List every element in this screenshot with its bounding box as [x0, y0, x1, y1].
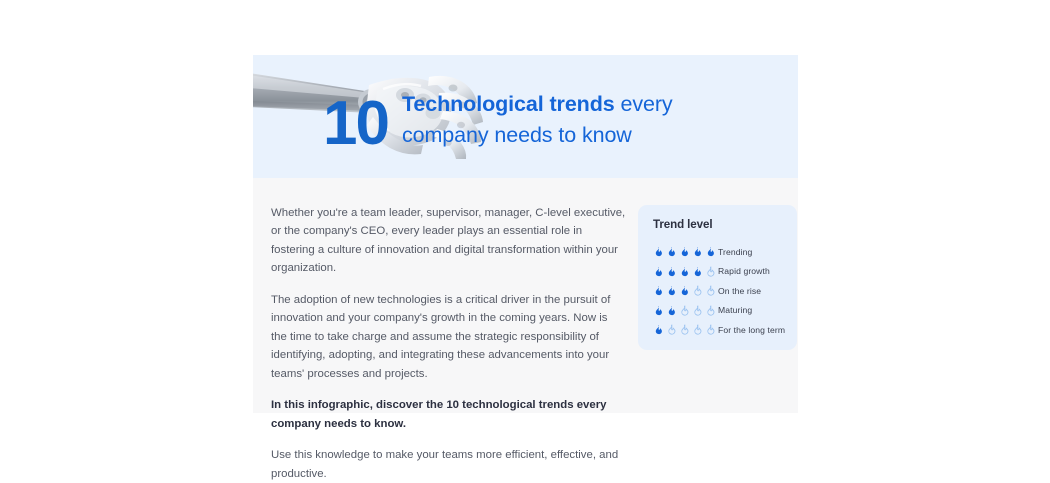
trend-level-label: Rapid growth	[718, 266, 770, 276]
flame-icon-filled	[692, 266, 703, 277]
flame-rating	[653, 285, 718, 296]
flame-icon-filled	[666, 285, 677, 296]
flame-icon-filled	[692, 246, 703, 257]
flame-rating	[653, 246, 718, 257]
body-card: Whether you're a team leader, supervisor…	[253, 178, 798, 413]
flame-icon-filled	[653, 266, 664, 277]
flame-icon-filled	[653, 285, 664, 296]
flame-icon-outline	[705, 266, 716, 277]
flame-icon-filled	[666, 266, 677, 277]
flame-icon-outline	[666, 324, 677, 335]
flame-icon-filled	[679, 285, 690, 296]
flame-icon-filled	[653, 246, 664, 257]
flame-icon-outline	[705, 305, 716, 316]
trend-level-row: Trending	[653, 242, 797, 262]
headline-line-1: Technological trends every	[402, 89, 673, 120]
closing-paragraph: Use this knowledge to make your teams mo…	[271, 446, 626, 483]
flame-rating	[653, 324, 718, 335]
flame-icon-filled	[653, 305, 664, 316]
flame-icon-filled	[653, 324, 664, 335]
flame-icon-outline	[679, 305, 690, 316]
flame-icon-outline	[705, 285, 716, 296]
flame-icon-outline	[705, 324, 716, 335]
flame-icon-filled	[666, 246, 677, 257]
header-band: 10 Technological trends every company ne…	[253, 55, 798, 178]
flame-icon-outline	[692, 324, 703, 335]
flame-icon-filled	[666, 305, 677, 316]
trend-level-label: On the rise	[718, 286, 761, 296]
flame-rating	[653, 305, 718, 316]
trend-level-row: Rapid growth	[653, 262, 797, 282]
infographic-callout: In this infographic, discover the 10 tec…	[271, 396, 626, 433]
infographic-canvas: 10 Technological trends every company ne…	[0, 0, 1050, 461]
trend-level-title: Trend level	[653, 218, 797, 231]
intro-copy-column: Whether you're a team leader, supervisor…	[271, 204, 626, 483]
headline-line-2: company needs to know	[402, 120, 673, 151]
trend-level-panel: Trend level TrendingRapid growthOn the r…	[638, 205, 797, 350]
flame-icon-filled	[679, 266, 690, 277]
flame-icon-outline	[692, 305, 703, 316]
headline-emphasis: Technological trends	[402, 92, 615, 116]
trend-level-label: Maturing	[718, 305, 752, 315]
trend-level-label: Trending	[718, 247, 752, 257]
trend-level-row: For the long term	[653, 320, 797, 340]
page-title: Technological trends every company needs…	[402, 89, 673, 151]
header-title-row: 10 Technological trends every company ne…	[253, 55, 798, 178]
trend-level-row: On the rise	[653, 281, 797, 301]
big-number-10: 10	[323, 93, 388, 155]
flame-icon-filled	[705, 246, 716, 257]
body-inner: Whether you're a team leader, supervisor…	[253, 178, 798, 413]
intro-paragraph-2: The adoption of new technologies is a cr…	[271, 291, 626, 383]
flame-icon-outline	[692, 285, 703, 296]
headline-line-1-rest: every	[615, 92, 673, 116]
flame-icon-outline	[679, 324, 690, 335]
trend-level-label: For the long term	[718, 325, 785, 335]
trend-level-row: Maturing	[653, 301, 797, 321]
trend-level-list: TrendingRapid growthOn the riseMaturingF…	[653, 242, 797, 340]
intro-paragraph-1: Whether you're a team leader, supervisor…	[271, 204, 626, 278]
flame-icon-filled	[679, 246, 690, 257]
flame-rating	[653, 266, 718, 277]
